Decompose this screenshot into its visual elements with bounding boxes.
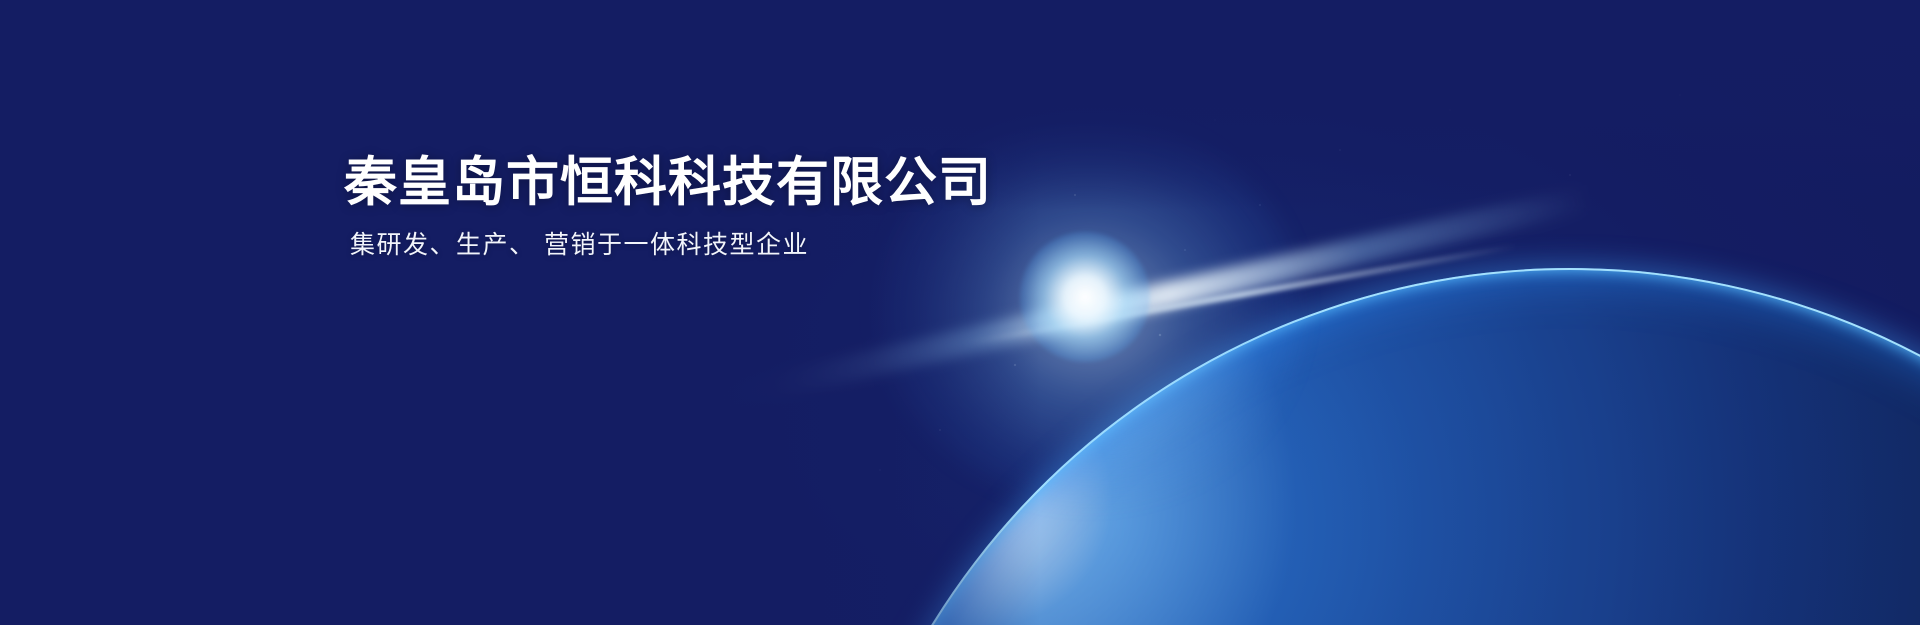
company-title: 秦皇岛市恒科科技有限公司 (344, 152, 992, 215)
banner-copy: 秦皇岛市恒科科技有限公司 集研发、生产、 营销于一体科技型企业 (344, 152, 992, 261)
hero-banner: 秦皇岛市恒科科技有限公司 集研发、生产、 营销于一体科技型企业 (0, 0, 1920, 625)
sunrise-core (1020, 232, 1150, 362)
company-tagline: 集研发、生产、 营销于一体科技型企业 (350, 229, 992, 262)
